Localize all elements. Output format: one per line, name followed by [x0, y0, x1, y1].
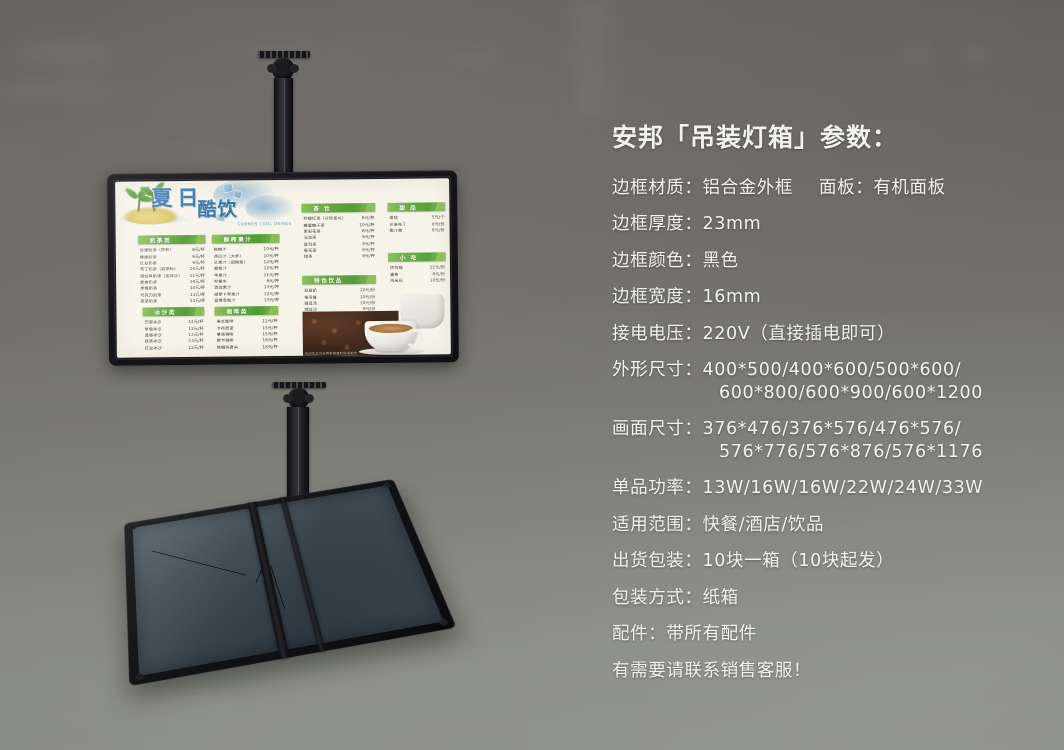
- ceiling-mount-plate-upper: [258, 51, 310, 58]
- spec-line-frame-color: 边框颜色：黑色: [612, 253, 1052, 271]
- menu-section: 鲜榨果汁 鲜橙汁10元/杯 西瓜汁（大杯）10元/杯 芒果汁（加椰浆）12元/杯…: [212, 234, 281, 304]
- section-rows: 鲜橙汁10元/杯 西瓜汁（大杯）10元/杯 芒果汁（加椰浆）12元/杯 葡萄汁1…: [212, 246, 281, 304]
- spec-line-frame-material: 边框材质：铝合金外框面板：有机面板: [612, 180, 1052, 198]
- hero-subtitle: SUMMER COOL DRINKS: [238, 221, 292, 227]
- spec-panel: 安邦「吊装灯箱」参数： 边框材质：铝合金外框面板：有机面板 边框厚度：23mm …: [612, 124, 1052, 699]
- drop-pole-upper: [274, 78, 293, 180]
- section-header-label: 冰沙类: [154, 309, 176, 317]
- wall-smudge: [316, 56, 366, 68]
- section-header-label: 特色饮品: [314, 277, 343, 285]
- wall-smudge: [150, 694, 240, 708]
- spec-line-accessories: 配件：带所有配件: [612, 626, 1052, 644]
- palm-leaf: [123, 186, 139, 201]
- wall-smudge: [0, 148, 40, 160]
- wall-smudge: [0, 82, 110, 98]
- coffee-photo: 本店饮品均采用新鲜原料现场制作: [302, 292, 451, 356]
- section-rows: 珍珠奶茶（中杯）8元/杯 椰果奶茶9元/杯 红豆奶茶9元/杯 布丁奶茶（双拼料）…: [138, 247, 207, 305]
- coffee-cup: [365, 321, 417, 352]
- section-header-label: 鲜榨果汁: [224, 236, 253, 244]
- spec-line-graphic-size-cont: 576*776/576*876/576*1176: [612, 444, 1052, 462]
- wall-seam: [560, 0, 624, 120]
- wall-smudge: [900, 44, 936, 62]
- joint-knob-left: [283, 394, 292, 403]
- menu-section: 冰沙类 芒果冰沙12元/杯 草莓冰沙12元/杯 蓝莓冰沙13元/杯 抹茶冰沙13…: [142, 307, 204, 352]
- spec-line-frame-width: 边框宽度：16mm: [612, 289, 1052, 307]
- product-photo-scene: 夏 日 酷 饮 SUMMER COOL DRINKS 奶茶类 珍珠奶茶（中杯）8…: [0, 0, 1064, 750]
- coffee-cup-handle: [405, 329, 424, 348]
- menu-row: 椰汁糕8元/份: [388, 227, 446, 234]
- menu-row: 鸡米花10元/份: [388, 277, 446, 284]
- menu-row: 焦糖玛奇朵18元/杯: [215, 344, 279, 351]
- menu-section: 小 吃 炸鸡翅12元/份 薯条8元/份 鸡米花10元/份: [388, 252, 446, 284]
- menu-poster: 夏 日 酷 饮 SUMMER COOL DRINKS 奶茶类 珍珠奶茶（中杯）8…: [115, 178, 451, 357]
- section-header-label: 咖啡类: [226, 308, 248, 316]
- wall-smudge: [452, 48, 498, 68]
- spec-line-outer-size-cont: 600*800/600*900/600*1200: [612, 385, 1052, 403]
- joint-knob-right: [305, 394, 314, 403]
- menu-row: 红豆冰沙12元/杯: [143, 344, 205, 351]
- spec-line-frame-thickness: 边框厚度：23mm: [612, 216, 1052, 234]
- wall-smudge: [96, 146, 246, 156]
- section-header: 甜 品: [387, 202, 445, 212]
- menu-section: 甜 品 蛋挞5元/个 芒果布丁8元/份 椰汁糕8元/份: [387, 202, 445, 234]
- section-rows: 蛋挞5元/个 芒果布丁8元/份 椰汁糕8元/份: [387, 214, 445, 234]
- spec-line-outer-size: 外形尺寸：400*500/400*600/500*600/: [612, 362, 1052, 380]
- lightbox-front-unit: 夏 日 酷 饮 SUMMER COOL DRINKS 奶茶类 珍珠奶茶（中杯）8…: [107, 170, 459, 366]
- spec-line-contact-note: 有需要请联系销售客服！: [612, 663, 1052, 681]
- menu-row: 绿茶8元/杯: [302, 253, 376, 260]
- section-header-label: 甜 品: [399, 204, 417, 212]
- spec-line-application: 适用范围：快餐/酒店/饮品: [612, 517, 1052, 535]
- menu-section: 奶茶类 珍珠奶茶（中杯）8元/杯 椰果奶茶9元/杯 红豆奶茶9元/杯 布丁奶茶（…: [138, 235, 207, 305]
- menu-row: 蓝莓雪梨汁13元/杯: [212, 297, 280, 304]
- menu-section: 茶 饮 柠檬红茶（冷热皆可）8元/杯 蜂蜜柚子茶10元/杯 茉莉花茶8元/杯 乌…: [301, 203, 376, 260]
- menu-hero: 夏 日 酷 饮 SUMMER COOL DRINKS: [117, 181, 318, 235]
- spec-title: 安邦「吊装灯箱」参数：: [612, 124, 1052, 152]
- menu-section: 咖啡类 美式咖啡12元/杯 卡布奇诺15元/杯 拿铁咖啡15元/杯 摩卡咖啡16…: [214, 306, 278, 351]
- section-rows: 炸鸡翅12元/份 薯条8元/份 鸡米花10元/份: [388, 264, 446, 284]
- wall-smudge: [960, 44, 994, 64]
- section-rows: 美式咖啡12元/杯 卡布奇诺15元/杯 拿铁咖啡15元/杯 摩卡咖啡16元/杯 …: [215, 318, 279, 351]
- spec-line-graphic-size: 画面尺寸：376*476/376*576/476*576/: [612, 421, 1052, 439]
- spec-line-power: 单品功率：13W/16W/16W/22W/24W/33W: [612, 480, 1052, 498]
- section-header: 小 吃: [388, 252, 446, 262]
- section-header: 特色饮品: [302, 275, 376, 285]
- section-header: 奶茶类: [138, 235, 206, 245]
- section-header-label: 小 吃: [400, 254, 418, 262]
- mount-plate-holes: [258, 51, 310, 58]
- menu-row: 抹茶奶茶11元/杯: [138, 298, 206, 305]
- joint-knob-left: [267, 64, 276, 73]
- spec-line-shipping-pack: 出货包装：10块一箱（10块起发）: [612, 553, 1052, 571]
- section-header: 咖啡类: [214, 306, 278, 316]
- section-rows: 芒果冰沙12元/杯 草莓冰沙12元/杯 蓝莓冰沙13元/杯 抹茶冰沙13元/杯 …: [143, 319, 205, 352]
- section-header: 鲜榨果汁: [212, 234, 280, 244]
- spec-line-packaging: 包装方式：纸箱: [612, 590, 1052, 608]
- section-header: 冰沙类: [142, 307, 204, 317]
- photo-caption: 本店饮品均采用新鲜原料现场制作: [305, 350, 357, 356]
- spec-line-voltage: 接电电压：220V（直接插电即可）: [612, 326, 1052, 344]
- water-splash: [245, 195, 295, 222]
- section-header-label: 茶 饮: [313, 205, 331, 213]
- section-rows: 柠檬红茶（冷热皆可）8元/杯 蜂蜜柚子茶10元/杯 茉莉花茶8元/杯 乌龙茶9元…: [301, 215, 375, 260]
- section-header: 茶 饮: [301, 203, 375, 213]
- section-header-label: 奶茶类: [150, 237, 172, 245]
- joint-knob-right: [290, 64, 299, 73]
- wall-smudge: [20, 40, 110, 66]
- pole-seam: [284, 78, 285, 180]
